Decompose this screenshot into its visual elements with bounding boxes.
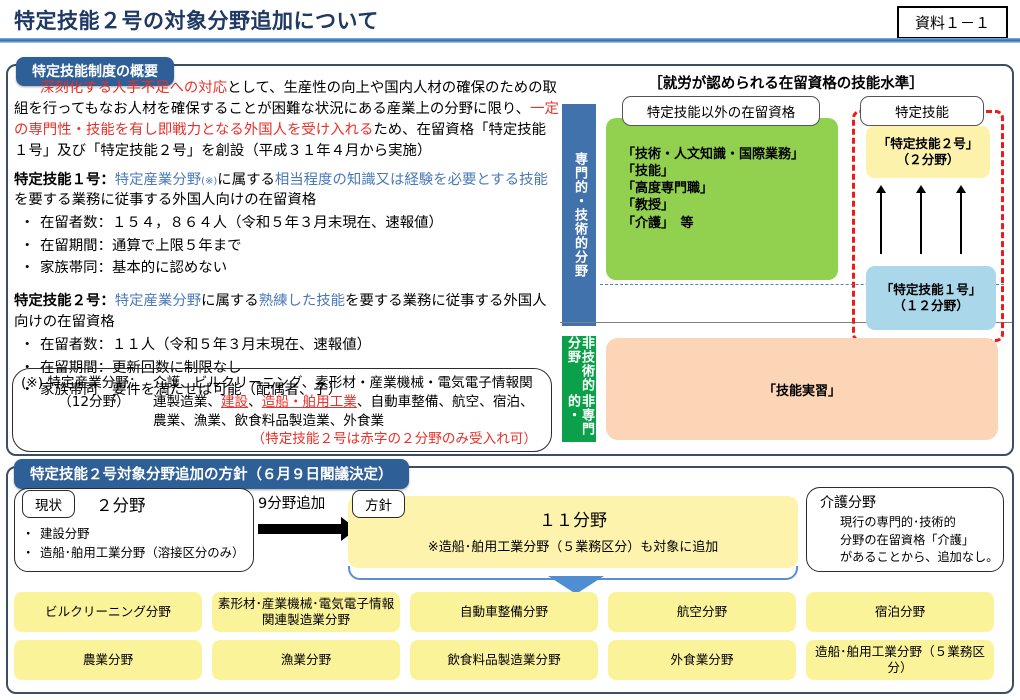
note-key: (※) 特定産業分野： （12分野） bbox=[21, 374, 153, 430]
type1-blue-1: 特定産業分野 bbox=[115, 172, 201, 188]
type1-definition: 特定技能１号：特定産業分野(※)に属する相当程度の知識又は経験を必要とする技能を… bbox=[14, 170, 559, 211]
residence-status-diagram: ［就労が認められる在留資格の技能水準］ 専門的・技術的分野 非専門的・ 非技術的… bbox=[560, 70, 1012, 454]
current-field-list: 建設分野 造船･舶用工業分野（溶接区分のみ） bbox=[22, 524, 244, 562]
vertical-label-nonpro-col2: 非技術的分野 bbox=[565, 336, 593, 394]
tokutei-type2-box: 「特定技能２号」 （２分野） bbox=[866, 126, 990, 178]
tokutei-type1-box-text: 「特定技能１号」 （１２分野） bbox=[881, 282, 982, 315]
vertical-label-nonprofessional: 非専門的・ 非技術的分野 bbox=[562, 336, 596, 442]
field-chip-grid: ビルクリーニング分野 素形材･産業機械･電気電子情報関連製造業分野 自動車整備分… bbox=[14, 592, 1006, 688]
field-chip: ビルクリーニング分野 bbox=[14, 592, 202, 632]
green-item: 「教授」 bbox=[622, 197, 838, 214]
type2-black-1: に属する bbox=[201, 293, 259, 309]
list-item: 在留期間：通算で上限５年まで bbox=[14, 235, 559, 257]
policy-note-text: ※造船･舶用工業分野（５業務区分）も対象に追加 bbox=[348, 536, 798, 555]
field-chip: 航空分野 bbox=[608, 592, 796, 632]
care-field-title: 介護分野 bbox=[820, 492, 876, 512]
note-val-red-kensetsu: 建設 bbox=[221, 394, 248, 410]
type1-bullet-list: 在留者数：１５４，８６４人（令和５年３月末現在、速報値） 在留期間：通算で上限５… bbox=[14, 212, 559, 279]
note-footer: （特定技能２号は赤字の２分野のみ受入れ可） bbox=[21, 430, 543, 449]
current-status-pill: 現状 bbox=[22, 490, 75, 518]
note-val-mid: 、 bbox=[248, 394, 262, 410]
industry-fields-note-box: (※) 特定産業分野： （12分野） 介護、ビルクリーニング、素形材・産業機械・… bbox=[12, 368, 552, 452]
field-chip-row-2: 農業分野 漁業分野 飲食料品製造業分野 外食業分野 造船･舶用工業分野（５業務区… bbox=[14, 640, 1006, 680]
field-chip: 素形材･産業機械･電気電子情報関連製造業分野 bbox=[212, 592, 400, 632]
ginou-jisshu-box: 「技能実習」 bbox=[606, 338, 998, 440]
list-item: 家族帯同：基本的に認めない bbox=[14, 257, 559, 279]
current-field-count: ２分野 bbox=[96, 492, 146, 516]
list-item: 造船･舶用工業分野（溶接区分のみ） bbox=[22, 543, 244, 562]
tokutei-type1-line2: （１２分野） bbox=[893, 298, 969, 313]
slide-page: 特定技能２号の対象分野追加について 資料１－１ 特定技能制度の概要 深刻化する人… bbox=[0, 0, 1020, 700]
field-chip: 造船･舶用工業分野（５業務区分） bbox=[806, 640, 994, 680]
type1-black-1: に属する bbox=[217, 172, 275, 188]
field-chip: 農業分野 bbox=[14, 640, 202, 680]
care-text-line3: があることから、追加なし。 bbox=[840, 550, 998, 564]
type1-blue-2: 相当程度の知識又は経験を必要とする技能 bbox=[275, 172, 548, 188]
type1-heading: 特定技能１号： bbox=[14, 172, 115, 188]
green-item: 「介護」 等 bbox=[622, 215, 838, 232]
other-statuses-green-box: 「技術・人文知識・国際業務」 「技能」 「高度専門職」 「教授」 「介護」 等 bbox=[606, 118, 838, 280]
list-item: 在留者数：１１人（令和５年３月末現在、速報値） bbox=[14, 334, 559, 356]
upgrade-arrow-2 bbox=[920, 192, 922, 254]
type2-heading: 特定技能２号： bbox=[14, 293, 115, 309]
field-chip: 宿泊分野 bbox=[806, 592, 994, 632]
policy-field-count: １１分野 bbox=[348, 506, 798, 531]
type1-ref-mark: (※) bbox=[201, 176, 217, 187]
field-chip: 外食業分野 bbox=[608, 640, 796, 680]
note-value: 介護、ビルクリーニング、素形材・産業機械・電気電子情報関連製造業、建設、造船・舶… bbox=[153, 374, 543, 430]
transition-arrow-icon bbox=[258, 524, 342, 534]
overview-text-column: 深刻化する人手不足への対応として、生産性の向上や国内人材の確保のための取組を行っ… bbox=[14, 78, 559, 401]
list-item: 建設分野 bbox=[22, 524, 244, 543]
note-key-line1: (※) 特定産業分野： bbox=[21, 375, 142, 391]
list-item: 在留者数：１５４，８６４人（令和５年３月末現在、速報値） bbox=[14, 212, 559, 234]
green-item: 「技能」 bbox=[622, 163, 838, 180]
page-title: 特定技能２号の対象分野追加について bbox=[14, 5, 379, 35]
tokutei-type2-line1: 「特定技能２号」 bbox=[878, 136, 979, 151]
tokutei-type1-box: 「特定技能１号」 （１２分野） bbox=[866, 266, 996, 330]
note-main-row: (※) 特定産業分野： （12分野） 介護、ビルクリーニング、素形材・産業機械・… bbox=[21, 374, 543, 430]
type2-definition: 特定技能２号：特定産業分野に属する熟練した技能を要する業務に従事する外国人向けの… bbox=[14, 291, 559, 332]
green-item: 「技術・人文知識・国際業務」 bbox=[622, 146, 838, 163]
type2-blue-1: 特定産業分野 bbox=[115, 293, 201, 309]
vertical-label-columns: 非専門的・ 非技術的分野 bbox=[565, 336, 593, 442]
care-text-line1: 現行の専門的･技術的 bbox=[840, 515, 956, 529]
added-fields-label: 9分野追加 bbox=[258, 492, 325, 513]
upgrade-arrow-1 bbox=[880, 192, 882, 254]
care-field-description: 現行の専門的･技術的 分野の在留資格「介護」 があることから、追加なし。 bbox=[840, 514, 998, 567]
note-val-red-zosen: 造船・舶用工業 bbox=[262, 394, 357, 410]
intro-paragraph: 深刻化する人手不足への対応として、生産性の向上や国内人材の確保のための取組を行っ… bbox=[14, 78, 559, 162]
vertical-label-professional: 専門的・技術的分野 bbox=[562, 104, 596, 326]
tokutei-type2-box-text: 「特定技能２号」 （２分野） bbox=[878, 136, 979, 169]
care-text-line2: 分野の在留資格「介護」 bbox=[840, 533, 974, 547]
note-key-line2: （12分野） bbox=[21, 393, 153, 412]
document-number-badge: 資料１－１ bbox=[897, 6, 1008, 39]
vertical-label-nonpro-col1: 非専門的・ bbox=[565, 394, 593, 442]
type2-blue-2: 熟練した技能 bbox=[259, 293, 345, 309]
intro-red-phrase-1: 深刻化する人手不足への対応 bbox=[40, 80, 227, 96]
field-chip: 自動車整備分野 bbox=[410, 592, 598, 632]
green-item: 「高度専門職」 bbox=[622, 180, 838, 197]
field-chip: 漁業分野 bbox=[212, 640, 400, 680]
caption-other-statuses: 特定技能以外の在留資格 bbox=[622, 96, 820, 126]
field-chip: 飲食料品製造業分野 bbox=[410, 640, 598, 680]
diagram-title: ［就労が認められる在留資格の技能水準］ bbox=[560, 72, 1012, 93]
tokutei-type1-line1: 「特定技能１号」 bbox=[881, 282, 982, 297]
policy-section-tab: 特定技能２号対象分野追加の方針（６月９日閣議決定） bbox=[14, 459, 409, 489]
type1-black-2: を要する業務に従事する外国人向けの在留資格 bbox=[14, 192, 316, 208]
upgrade-arrow-3 bbox=[960, 192, 962, 254]
tokutei-type2-line2: （２分野） bbox=[897, 152, 960, 167]
caption-tokutei-ginou: 特定技能 bbox=[860, 96, 984, 126]
field-chip-row-1: ビルクリーニング分野 素形材･産業機械･電気電子情報関連製造業分野 自動車整備分… bbox=[14, 592, 1006, 632]
policy-pill: 方針 bbox=[352, 490, 405, 518]
title-divider-rule bbox=[0, 38, 1020, 43]
